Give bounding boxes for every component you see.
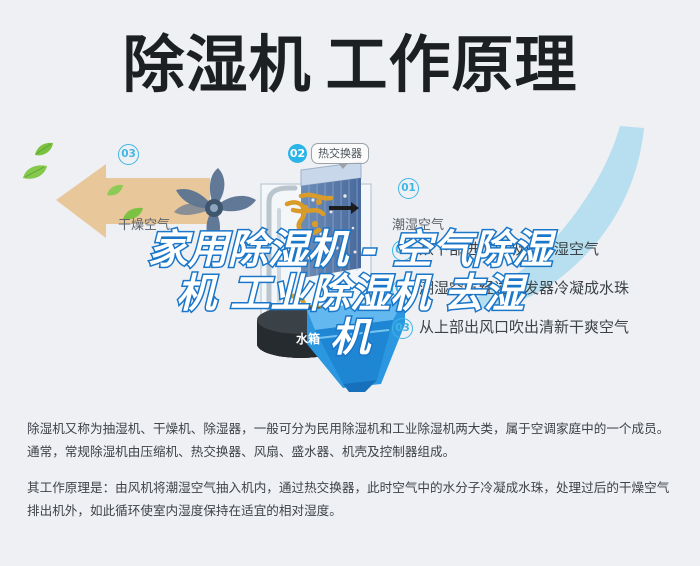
leaf-icon — [34, 142, 54, 161]
paragraph-definition-line-1: 除湿机又称为抽湿机、干燥机、除湿器，一般可分为民用除湿机和工业除湿机两大类，属于… — [27, 421, 669, 436]
title-part-two: 工作原理 — [326, 28, 578, 101]
step-number-badge: 03 — [392, 318, 413, 339]
label-humid-air: 潮湿空气 — [392, 214, 444, 233]
list-item: 03 从上部出风口吹出清新干爽空气 — [392, 317, 692, 339]
step-text: 潮湿空气经过蒸发器冷凝成水珠 — [419, 278, 629, 298]
callout-heat-exchanger-label: 热交换器 — [311, 143, 369, 164]
label-dry-air: 干燥空气 — [118, 214, 170, 233]
marker-dry-air: 03 — [118, 144, 139, 165]
callout-heat-exchanger: 02 热交换器 — [288, 143, 369, 164]
list-item: 01 从下部进风口吸进潮湿空气 — [392, 239, 692, 261]
diagram-stage: 02 热交换器 03 干燥空气 01 潮湿空气 水箱 01 从下部进风口吸进潮湿… — [0, 118, 700, 410]
list-item: 02 潮湿空气经过蒸发器冷凝成水珠 — [392, 278, 692, 300]
marker-humid-air: 01 — [398, 178, 419, 199]
marker-number-badge: 01 — [398, 178, 419, 199]
poster-title: 除湿机工作原理 — [0, 22, 700, 108]
paragraph-definition: 除湿机又称为抽湿机、干燥机、除湿器，一般可分为民用除湿机和工业除湿机两大类，属于… — [27, 418, 675, 463]
callout-number-badge: 02 — [288, 144, 307, 163]
label-water-tank: 水箱 — [296, 330, 320, 347]
description-block: 除湿机又称为抽湿机、干燥机、除湿器，一般可分为民用除湿机和工业除湿机两大类，属于… — [27, 418, 675, 533]
step-text: 从下部进风口吸进潮湿空气 — [419, 239, 599, 259]
page-title: 除湿机工作原理 — [122, 34, 577, 96]
step-text: 从上部出风口吹出清新干爽空气 — [419, 317, 629, 337]
marker-number-badge: 03 — [118, 144, 139, 165]
process-steps-list: 01 从下部进风口吸进潮湿空气 02 潮湿空气经过蒸发器冷凝成水珠 03 从上部… — [392, 239, 692, 356]
title-part-one: 除湿机 — [122, 28, 311, 101]
leaf-icon — [106, 182, 124, 201]
paragraph-principle: 其工作原理是：由风机将潮湿空气抽入机内，通过热交换器，此时空气中的水分子冷凝成水… — [27, 477, 675, 522]
paragraph-principle-line-1: 其工作原理是：由风机将潮湿空气抽入机内，通过热交换器，此时空气中的水分子冷凝成水… — [27, 480, 669, 495]
step-number-badge: 02 — [392, 279, 413, 300]
paragraph-principle-line-2: 排出机外，如此循环使室内湿度保持在适宜的相对湿度。 — [27, 503, 342, 518]
poster-canvas: 除湿机工作原理 — [0, 0, 700, 566]
step-number-badge: 01 — [392, 240, 413, 261]
paragraph-definition-line-2: 通常，常规除湿机由压缩机、热交换器、风扇、盛水器、机壳及控制器组成。 — [27, 444, 455, 459]
leaf-icon — [22, 164, 48, 185]
